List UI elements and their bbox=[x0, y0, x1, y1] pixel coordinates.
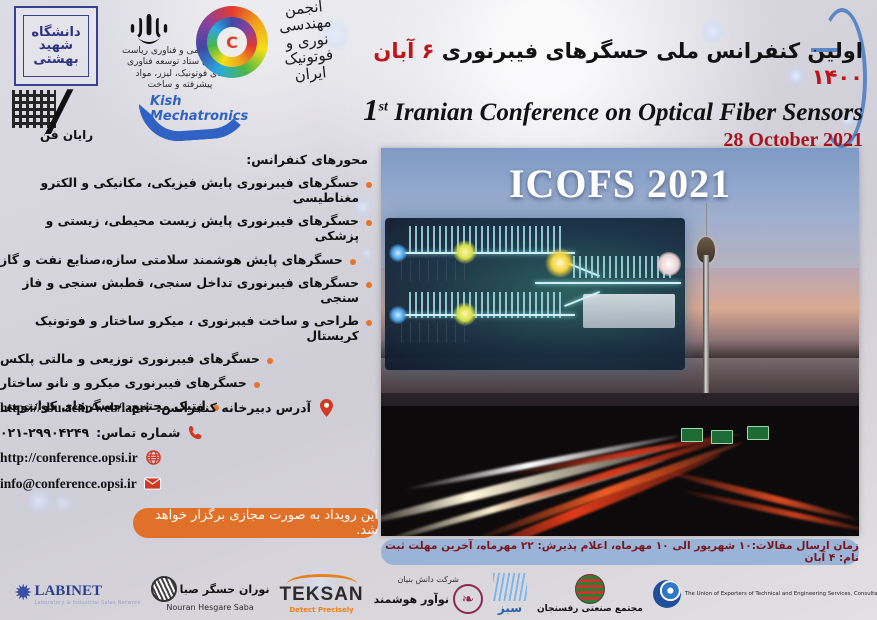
output-sensor-glow bbox=[657, 252, 681, 276]
opsi-center-letter: C bbox=[217, 27, 247, 57]
topics-heading: محورهای کنفرانس: bbox=[0, 152, 372, 167]
bullet-icon bbox=[350, 259, 356, 265]
topic-label: حسگرهای فیبرنوری پایش زیست محیطی، زیستی … bbox=[0, 214, 359, 244]
title-ordinal-number: 1 bbox=[363, 92, 379, 127]
topic-item: حسگرهای فیبرنوری توزیعی و مالتی پلکس bbox=[0, 352, 372, 367]
logo-iran-emblem: معاونت علمی و فناوری ریاست جمهوری ستاد ت… bbox=[118, 12, 180, 70]
bullet-icon bbox=[366, 220, 372, 226]
logo-labinet: ✹ LABINET Laboratory & Industrial Sales … bbox=[14, 571, 141, 617]
nouran-label-fa: نوران حسگر صبا bbox=[180, 583, 270, 596]
highway-sign bbox=[681, 428, 703, 442]
topic-item: حسگرهای فیبرنوری تداخل سنجی، قطبش سنجی و… bbox=[0, 276, 372, 306]
topic-item: حسگرهای فیبرنوری پایش زیست محیطی، زیستی … bbox=[0, 214, 372, 244]
spectrum-bar-bottom bbox=[401, 322, 465, 343]
title-persian-text: اولین کنفرانس ملی حسگرهای فیبرنوری bbox=[442, 39, 863, 63]
logo-optics-photonics-society-iran: C bbox=[196, 6, 268, 78]
highway-sign bbox=[711, 430, 733, 444]
logo-majtame-sanati-rafsanjan: مجتمع صنعتی رفسنجان bbox=[537, 571, 643, 617]
caliper-icon bbox=[583, 294, 675, 328]
topic-item: حسگرهای فیبرنوری پایش فیزیکی، مکانیکی و … bbox=[0, 176, 372, 206]
contact-address-label: آدرس دبیرخانه کنفرانس: bbox=[156, 400, 311, 415]
topic-label: حسگرهای فیبرنوری تداخل سنجی، قطبش سنجی و… bbox=[0, 276, 359, 306]
topic-label: حسگرهای پایش هوشمند سلامتی سازه،صنایع نف… bbox=[0, 253, 343, 268]
title-persian: اولین کنفرانس ملی حسگرهای فیبرنوری ۶ آبا… bbox=[343, 38, 863, 91]
ettehadieh-emblem-icon bbox=[653, 580, 681, 608]
contact-block: آدرس دبیرخانه کنفرانس: https://sbu.ac.ir… bbox=[0, 398, 380, 499]
topic-item: حسگرهای پایش هوشمند سلامتی سازه،صنایع نف… bbox=[0, 253, 372, 268]
contact-row-address: آدرس دبیرخانه کنفرانس: https://sbu.ac.ir… bbox=[0, 398, 374, 417]
logo-noavar-hooshmand: شرکت دانش بنیان نوآور هوشمند ❧ bbox=[374, 571, 483, 617]
globe-icon bbox=[145, 448, 162, 467]
labinet-subtitle: Laboratory & Industrial Sales Network bbox=[34, 600, 140, 606]
teksan-wordmark: TEKSAN bbox=[279, 584, 363, 606]
optical-chip-illustration bbox=[385, 218, 685, 370]
light-trail-red bbox=[663, 468, 859, 523]
bottom-sponsor-logos: ✹ LABINET Laboratory & Industrial Sales … bbox=[0, 568, 877, 620]
labinet-wordmark: LABINET bbox=[34, 583, 140, 600]
logo-rayan-fan: / رایان فن bbox=[10, 88, 130, 144]
contact-row-email: info@conference.opsi.ir bbox=[0, 474, 374, 493]
topic-label: طراحی و ساخت فیبرنوری ، میکرو ساختار و ف… bbox=[0, 314, 359, 344]
top-sponsor-logos: دانشگاه شهید بهشتی معاونت علمی و فناوری … bbox=[0, 0, 380, 150]
logo-kish-mechatronics: Kish Mechatronics bbox=[140, 92, 255, 142]
bullet-icon bbox=[366, 182, 372, 188]
spectrum-bar-top bbox=[401, 260, 465, 281]
noavar-label-fa: نوآور هوشمند bbox=[374, 593, 449, 606]
title-english: 1st Iranian Conference on Optical Fiber … bbox=[343, 92, 863, 128]
noavar-subtitle: شرکت دانش بنیان bbox=[398, 575, 459, 584]
phone-icon bbox=[187, 423, 204, 442]
poster-title-block: اولین کنفرانس ملی حسگرهای فیبرنوری ۶ آبا… bbox=[343, 38, 863, 152]
topic-item: حسگرهای فیبرنوری میکرو و نانو ساختار bbox=[0, 376, 372, 391]
contact-address-url[interactable]: https://sbu.ac.ir/web/lapri bbox=[0, 400, 149, 416]
virtual-event-notice: این رویداد به صورت مجازی برگزار خواهد شد… bbox=[133, 508, 378, 538]
conference-topics: محورهای کنفرانس: حسگرهای فیبرنوری پایش ف… bbox=[0, 152, 380, 423]
contact-website[interactable]: http://conference.opsi.ir bbox=[0, 450, 138, 466]
topic-label: حسگرهای فیبرنوری پایش فیزیکی، مکانیکی و … bbox=[0, 176, 359, 206]
main-photo: ICOFS 2021 bbox=[381, 148, 859, 536]
logo-iranian-society-of-photonics: انجمن مهندسی نوری و فوتونیک ایران bbox=[269, 7, 345, 76]
kish-mechatronics-label: Kish Mechatronics bbox=[150, 94, 255, 124]
bullet-icon bbox=[366, 282, 372, 288]
teksan-tagline: Detect Precisely bbox=[289, 606, 353, 614]
bullet-icon bbox=[366, 320, 372, 326]
rafsanjan-label-fa: مجتمع صنعتی رفسنجان bbox=[537, 604, 643, 614]
logo-sabz: سبز bbox=[493, 571, 527, 617]
contact-phone-label: شماره تماس: bbox=[96, 425, 180, 440]
ettehadieh-label: اتحادیه صادرکنندگان خدمات فنی مهندسی مشا… bbox=[685, 590, 877, 598]
logo-ettehadieh-saderkonandegan: اتحادیه صادرکنندگان خدمات فنی مهندسی مشا… bbox=[653, 571, 877, 617]
title-english-text: Iranian Conference on Optical Fiber Sens… bbox=[394, 99, 863, 126]
sabz-fan-icon bbox=[493, 573, 527, 601]
grating-top bbox=[409, 226, 565, 252]
sbu-logo-text: دانشگاه شهید بهشتی bbox=[23, 15, 89, 77]
sabz-label-fa: سبز bbox=[498, 601, 522, 615]
waveguide-bottom bbox=[397, 314, 575, 316]
rafsanjan-disc-icon bbox=[575, 574, 605, 604]
topic-item: طراحی و ساخت فیبرنوری ، میکرو ساختار و ف… bbox=[0, 314, 372, 344]
submission-dates-banner: زمان ارسال مقالات:۱۰ شهریور الی ۱۰ مهرما… bbox=[381, 539, 859, 565]
opsi-ring-inner: C bbox=[207, 17, 257, 67]
logo-shahid-beheshti-university: دانشگاه شهید بهشتی bbox=[14, 6, 98, 86]
location-pin-icon bbox=[318, 398, 335, 417]
conference-poster: دانشگاه شهید بهشتی معاونت علمی و فناوری … bbox=[0, 0, 877, 620]
highway-sign bbox=[747, 426, 769, 440]
title-ordinal-suffix: st bbox=[379, 99, 388, 114]
tower-mast bbox=[706, 203, 708, 239]
contact-email[interactable]: info@conference.opsi.ir bbox=[0, 476, 137, 492]
grating-output bbox=[573, 256, 671, 278]
bullet-icon bbox=[267, 358, 273, 364]
nouran-label-en: Nouran Hesgare Saba bbox=[166, 603, 253, 612]
topic-label: حسگرهای فیبرنوری توزیعی و مالتی پلکس bbox=[0, 352, 260, 367]
contact-row-phone: شماره تماس: ۰۲۱-۲۹۹۰۴۲۴۹ bbox=[0, 423, 374, 442]
highway-light-trails bbox=[381, 406, 859, 536]
rayan-fan-label: رایان فن bbox=[40, 128, 93, 142]
contact-row-website: http://conference.opsi.ir bbox=[0, 448, 374, 467]
waveguide-merged bbox=[535, 282, 681, 284]
labinet-mark-icon: ✹ bbox=[14, 585, 32, 603]
teksan-arc-icon bbox=[287, 574, 357, 584]
envelope-icon bbox=[144, 474, 161, 493]
contact-phone-value: ۰۲۱-۲۹۹۰۴۲۴۹ bbox=[0, 425, 89, 440]
bullet-icon bbox=[254, 382, 260, 388]
image-title: ICOFS 2021 bbox=[381, 160, 859, 207]
logo-nouran-hesgare-saba: نوران حسگر صبا Nouran Hesgare Saba bbox=[151, 571, 270, 617]
noavar-emblem-icon: ❧ bbox=[453, 584, 483, 614]
topic-label: حسگرهای فیبرنوری میکرو و نانو ساختار bbox=[0, 376, 247, 391]
center-glow bbox=[545, 248, 575, 278]
tower-shaft bbox=[703, 255, 709, 407]
logo-teksan: TEKSAN Detect Precisely bbox=[279, 571, 363, 617]
nouran-coil-icon bbox=[151, 576, 177, 602]
